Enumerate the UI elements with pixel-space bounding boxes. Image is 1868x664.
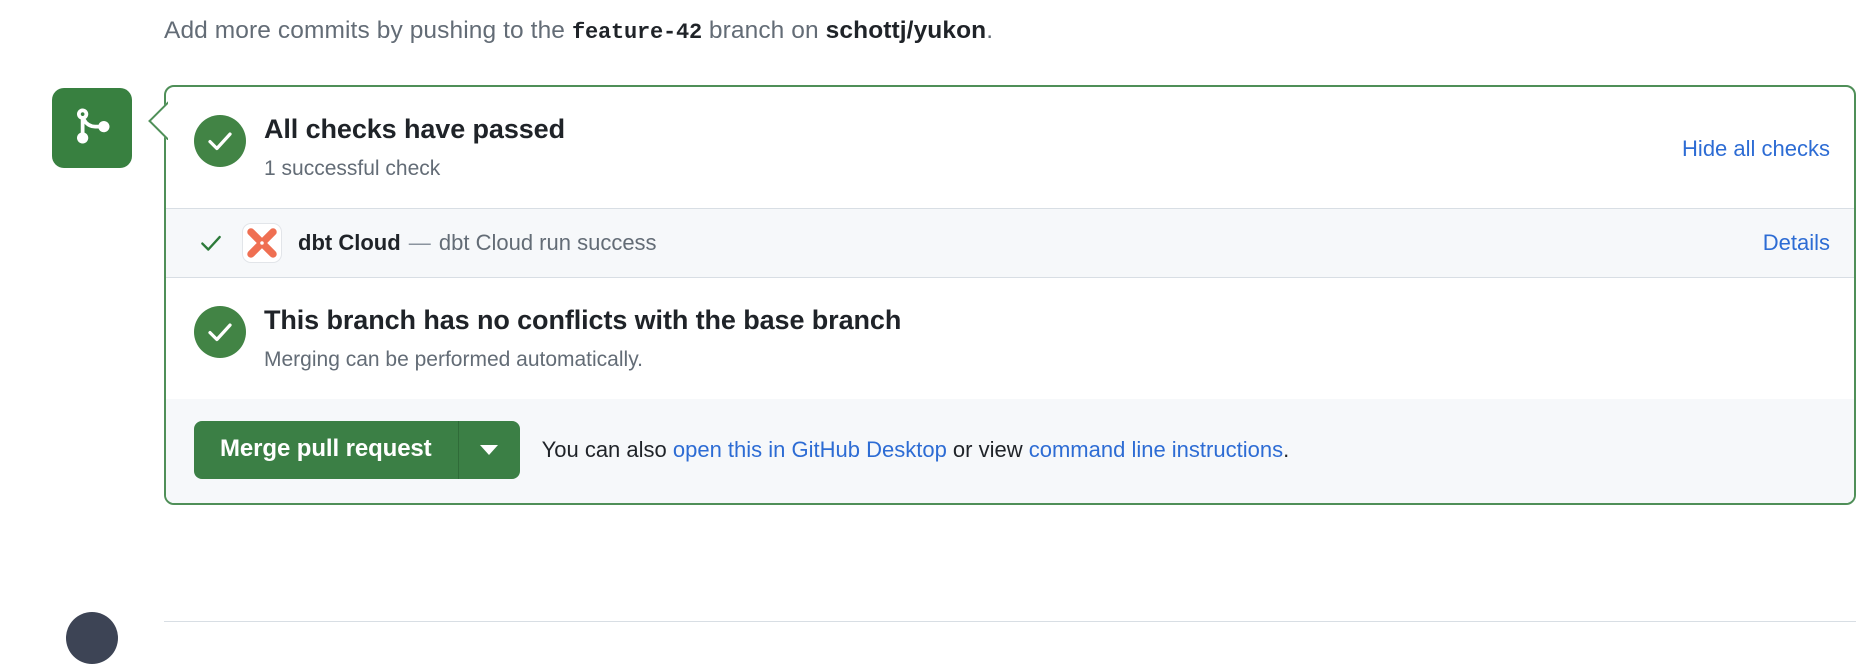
checks-summary-title: All checks have passed	[264, 113, 1682, 147]
checks-list: dbt Cloud — dbt Cloud run success Detail…	[166, 208, 1854, 278]
chevron-down-icon	[480, 445, 498, 455]
merge-pull-request-button[interactable]: Merge pull request	[194, 421, 458, 479]
checks-summary-subtitle: 1 successful check	[264, 155, 1682, 182]
timeline-merge-badge	[52, 88, 132, 168]
avatar	[66, 612, 118, 664]
conflicts-subtitle: Merging can be performed automatically.	[264, 346, 1830, 373]
checks-summary-section: All checks have passed 1 successful chec…	[166, 87, 1854, 208]
merge-button-group: Merge pull request	[194, 421, 520, 479]
merge-footer: Merge pull request You can also open thi…	[166, 399, 1854, 503]
merge-footer-note: You can also open this in GitHub Desktop…	[542, 437, 1290, 463]
conflicts-title: This branch has no conflicts with the ba…	[264, 304, 1830, 338]
footer-note-middle: or view	[947, 437, 1029, 462]
footer-note-suffix: .	[1283, 437, 1289, 462]
merge-options-dropdown-button[interactable]	[458, 421, 520, 479]
timeline-divider	[164, 621, 1856, 622]
open-in-github-desktop-link[interactable]: open this in GitHub Desktop	[673, 437, 947, 462]
repository-name: schottj/yukon	[826, 17, 987, 44]
dbt-cloud-logo-icon	[242, 223, 282, 263]
check-context-name: dbt Cloud	[298, 230, 401, 255]
push-hint-suffix: .	[986, 17, 993, 44]
merge-status-box: All checks have passed 1 successful chec…	[164, 85, 1856, 505]
check-circle-icon	[194, 306, 246, 358]
check-icon	[194, 230, 228, 256]
push-more-commits-hint: Add more commits by pushing to the featu…	[164, 14, 993, 49]
check-description: dbt Cloud — dbt Cloud run success	[298, 230, 1763, 256]
footer-note-prefix: You can also	[542, 437, 673, 462]
checks-summary-text: All checks have passed 1 successful chec…	[264, 113, 1682, 182]
conflicts-text: This branch has no conflicts with the ba…	[264, 304, 1830, 373]
callout-arrow	[146, 100, 168, 140]
check-status-text: dbt Cloud run success	[439, 230, 657, 255]
check-row: dbt Cloud — dbt Cloud run success Detail…	[166, 209, 1854, 277]
check-separator: —	[407, 230, 433, 255]
hide-all-checks-toggle[interactable]: Hide all checks	[1682, 136, 1830, 162]
git-merge-icon	[72, 106, 112, 151]
check-details-link[interactable]: Details	[1763, 230, 1830, 256]
conflicts-section: This branch has no conflicts with the ba…	[166, 278, 1854, 399]
command-line-instructions-link[interactable]: command line instructions	[1029, 437, 1283, 462]
push-hint-prefix: Add more commits by pushing to the	[164, 17, 572, 44]
push-hint-middle: branch on	[702, 17, 826, 44]
check-circle-icon	[194, 115, 246, 167]
branch-name: feature-42	[572, 20, 702, 45]
